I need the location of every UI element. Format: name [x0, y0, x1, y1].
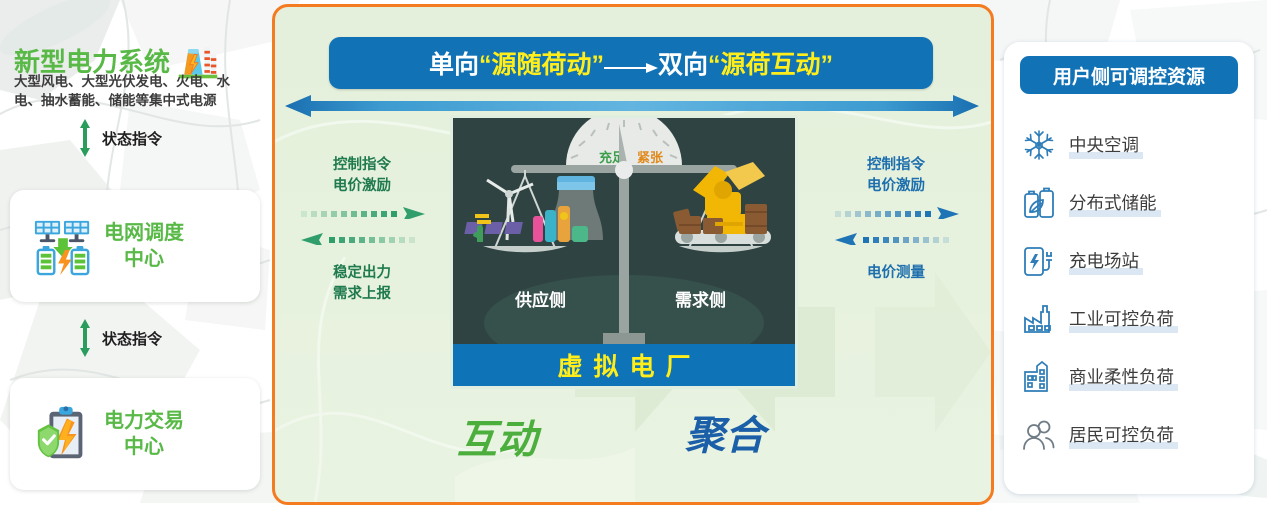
office-building-icon — [1022, 360, 1056, 394]
card-label-line1: 电网调度 — [104, 220, 184, 246]
left-column: 新型电力系统 大型风电、大型光伏发电、火电、水电、抽水蓄能、储能等集中式电源 — [0, 0, 268, 503]
left-flow-label-top: 控制指令 电价激励 — [297, 155, 427, 197]
left-flow-label-top-line1: 控制指令 — [297, 155, 427, 176]
list-item-distributed-storage[interactable]: 分布式储能 — [1022, 174, 1238, 232]
center-panel: 单向“源随荷动” 双向“源荷互动” 控制指令 电价激励 — [272, 4, 994, 505]
status-command-arrow-1: 状态指令 — [78, 118, 162, 158]
ev-charger-icon — [1022, 244, 1056, 278]
gauge-label-right: 紧张 — [637, 150, 664, 165]
vpp-caption: 虚拟电厂 — [546, 347, 701, 383]
list-item-industrial-load[interactable]: 工业可控负荷 — [1022, 290, 1238, 348]
status-command-label-2: 状态指令 — [102, 328, 162, 349]
list-item-label: 工业可控负荷 — [1069, 306, 1174, 333]
solar-battery-icon — [32, 215, 94, 277]
right-flow-label-bottom: 电价测量 — [831, 263, 961, 284]
list-item-commercial-load[interactable]: 商业柔性负荷 — [1022, 348, 1238, 406]
double-arrow-vertical-icon — [78, 118, 92, 158]
headline-banner: 单向“源随荷动” 双向“源荷互动” — [329, 37, 933, 89]
card-label-line2: 中心 — [104, 434, 184, 460]
right-flow-label-bottom-line1: 电价测量 — [831, 263, 961, 284]
list-item-central-ac[interactable]: 中央空调 — [1022, 116, 1238, 174]
snowflake-icon — [1022, 128, 1056, 162]
list-item-label: 中央空调 — [1069, 132, 1139, 159]
dotted-arrow-right-blue-icon — [835, 207, 959, 219]
headline-part1: 单向 — [429, 51, 479, 79]
card-grid-dispatch-center-label: 电网调度 中心 — [104, 220, 184, 272]
right-flow-label-top-line1: 控制指令 — [831, 155, 961, 176]
headline-part2: 双向 — [658, 51, 708, 79]
headline-text: 单向“源随荷动” 双向“源荷互动” — [429, 45, 833, 81]
left-subtitle: 大型风电、大型光伏发电、火电、水电、抽水蓄能、储能等集中式电源 — [14, 72, 252, 110]
left-flow-label-bottom: 稳定出力 需求上报 — [297, 263, 427, 305]
supply-side-label: 供应侧 — [514, 290, 566, 310]
right-panel: 用户侧可调控资源 中央空调 — [1004, 42, 1254, 494]
bottom-word-interaction: 互动 — [457, 407, 537, 465]
headline-arrow-icon — [604, 52, 658, 81]
headline-quote1: “源随荷动” — [479, 51, 604, 79]
infographic-root: 新型电力系统 大型风电、大型光伏发电、火电、水电、抽水蓄能、储能等集中式电源 — [0, 0, 1267, 503]
left-flow-label-bottom-line1: 稳定出力 — [297, 263, 427, 284]
card-label-line2: 中心 — [104, 246, 184, 272]
headline-quote2: “源荷互动” — [708, 51, 833, 79]
list-item-label: 居民可控负荷 — [1069, 422, 1174, 449]
card-label-line1: 电力交易 — [104, 408, 184, 434]
list-item-label: 商业柔性负荷 — [1069, 364, 1174, 391]
right-panel-header: 用户侧可调控资源 — [1020, 56, 1238, 94]
status-command-label-1: 状态指令 — [102, 128, 162, 149]
left-flow-label-top-line2: 电价激励 — [297, 176, 427, 197]
right-flow-label-top: 控制指令 电价激励 — [831, 155, 961, 197]
battery-leaf-icon — [1022, 186, 1056, 220]
dotted-arrow-right-green-icon — [301, 207, 425, 219]
card-power-trading-center[interactable]: 电力交易 中心 — [10, 378, 260, 490]
factory-icon — [1022, 302, 1056, 336]
clipboard-shield-bolt-icon — [32, 403, 94, 465]
dotted-arrow-left-green-icon — [301, 233, 425, 245]
bottom-word-aggregation: 聚合 — [685, 403, 765, 461]
dotted-arrow-left-blue-icon — [835, 233, 959, 245]
list-item-ev-charging-station[interactable]: 充电场站 — [1022, 232, 1238, 290]
list-item-label: 充电场站 — [1069, 248, 1139, 275]
right-flow-label-top-line2: 电价激励 — [831, 176, 961, 197]
list-item-residential-load[interactable]: 居民可控负荷 — [1022, 406, 1238, 464]
demand-side-label: 需求侧 — [675, 290, 726, 310]
vpp-caption-bar: 虚拟电厂 — [453, 344, 795, 386]
resource-list: 中央空调 分布式储能 — [1022, 116, 1238, 464]
right-panel-header-label: 用户侧可调控资源 — [1053, 62, 1205, 89]
double-arrow-vertical-icon — [78, 318, 92, 358]
status-command-arrow-2: 状态指令 — [78, 318, 162, 358]
people-icon — [1022, 418, 1056, 452]
virtual-power-plant-illustration: 充足 紧张 — [450, 115, 798, 389]
card-grid-dispatch-center[interactable]: 电网调度 中心 — [10, 190, 260, 302]
card-power-trading-center-label: 电力交易 中心 — [104, 408, 184, 460]
left-flow-label-bottom-line2: 需求上报 — [297, 284, 427, 305]
list-item-label: 分布式储能 — [1069, 190, 1157, 217]
